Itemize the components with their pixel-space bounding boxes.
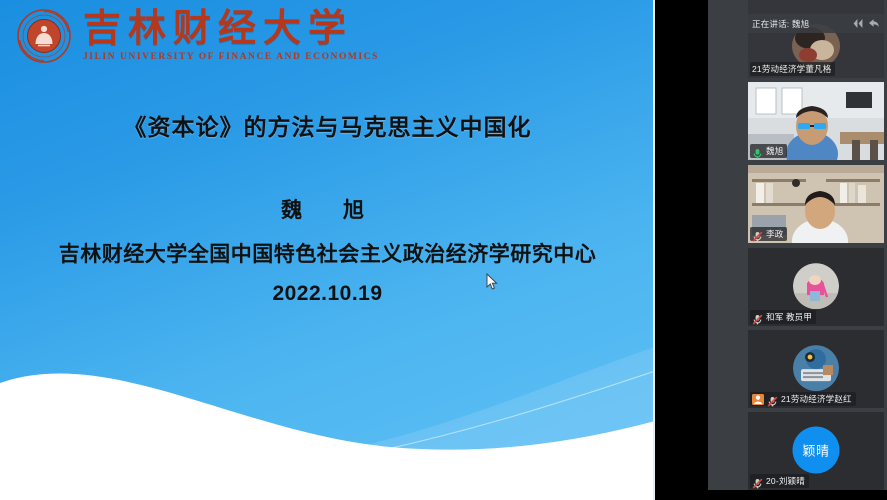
participant-name-badge: 和军 教员甲: [750, 310, 816, 324]
slide-date: 2022.10.19: [0, 282, 655, 306]
participant-tile[interactable]: 魏旭: [748, 82, 884, 160]
mouse-pointer-icon: [486, 273, 498, 291]
participant-name: 李政: [766, 228, 783, 240]
avatar: [793, 345, 839, 391]
participant-name-badge: 21劳动经济学董凡格: [750, 62, 835, 76]
participant-name: 21劳动经济学赵红: [781, 393, 852, 405]
presentation-slide: 吉林财经大学 JILIN UNIVERSITY OF FINANCE AND E…: [0, 0, 655, 500]
participant-tile[interactable]: 颖晴 20-刘颖晴: [748, 412, 884, 490]
university-seal-icon: [14, 7, 74, 65]
participant-name-badge: 20-刘颖晴: [750, 474, 809, 488]
participant-tile[interactable]: 李政: [748, 165, 884, 243]
participant-name-badge: 21劳动经济学赵红: [750, 392, 856, 406]
collapse-strip-icon[interactable]: [852, 17, 865, 30]
active-speaker-bar: 正在讲话: 魏旭: [748, 14, 884, 33]
shared-screen-area: 吉林财经大学 JILIN UNIVERSITY OF FINANCE AND E…: [0, 0, 657, 500]
participant-name: 魏旭: [766, 145, 783, 157]
participant-tile[interactable]: 和军 教员甲: [748, 248, 884, 326]
university-name-en: JILIN UNIVERSITY OF FINANCE AND ECONOMIC…: [83, 53, 379, 63]
participant-filmstrip: 21劳动经济学董凡格: [708, 0, 887, 500]
avatar-initials: 颖晴: [793, 427, 840, 474]
university-name-cn: 吉林财经大学: [83, 9, 379, 47]
participant-tile[interactable]: 21劳动经济学赵红: [748, 330, 884, 408]
microphone-muted-icon: [752, 229, 763, 240]
participant-name: 和军 教员甲: [766, 311, 812, 323]
participant-name: 21劳动经济学董凡格: [752, 63, 831, 75]
active-speaker-label: 正在讲话: 魏旭: [752, 18, 809, 30]
microphone-muted-icon: [767, 394, 778, 405]
host-badge-icon: [752, 394, 764, 405]
participant-tile[interactable]: 21劳动经济学董凡格: [748, 0, 884, 78]
avatar: [793, 263, 839, 309]
participant-name-badge: 李政: [750, 227, 787, 241]
participant-name-badge: 魏旭: [750, 144, 787, 158]
back-arrow-icon[interactable]: [867, 17, 880, 30]
filmstrip-bottom-bar: [708, 490, 887, 500]
slide-affiliation: 吉林财经大学全国中国特色社会主义政治经济学研究中心: [0, 238, 655, 268]
participant-name: 20-刘颖晴: [766, 475, 805, 487]
microphone-muted-icon: [752, 312, 763, 323]
slide-author: 魏 旭: [0, 194, 655, 224]
microphone-unmuted-icon: [752, 146, 763, 157]
slide-title: 《资本论》的方法与马克思主义中国化: [0, 108, 655, 142]
university-logo: 吉林财经大学 JILIN UNIVERSITY OF FINANCE AND E…: [14, 7, 379, 65]
slide-wave-decoration: [0, 325, 655, 500]
screen-root: 吉林财经大学 JILIN UNIVERSITY OF FINANCE AND E…: [0, 0, 887, 500]
letterbox-gap: [655, 0, 708, 500]
microphone-muted-icon: [752, 476, 763, 487]
